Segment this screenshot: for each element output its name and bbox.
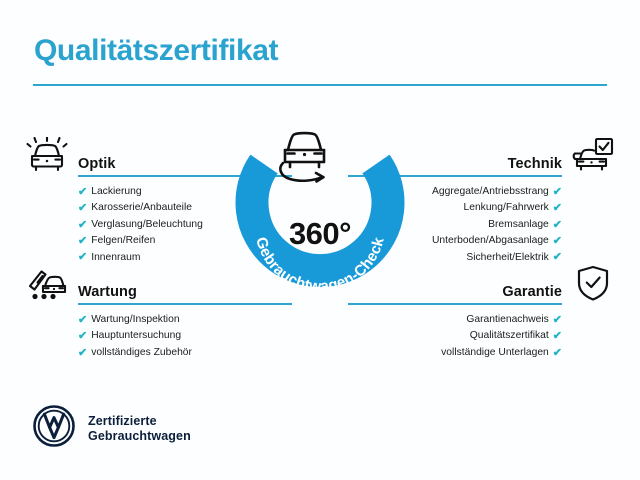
list-item-label: Qualitätszertifikat — [470, 328, 549, 344]
list-item: ✔Hauptuntersuchung — [78, 328, 292, 344]
check-icon: ✔ — [553, 203, 562, 214]
list-item: vollständige Unterlagen✔ — [348, 345, 562, 361]
check-icon: ✔ — [78, 236, 87, 247]
list-item-label: Unterboden/Abgasanlage — [432, 233, 549, 249]
check-icon: ✔ — [553, 331, 562, 342]
header-divider — [33, 84, 607, 86]
page-title: Qualitätszertifikat — [34, 34, 278, 68]
list-item-label: vollständige Unterlagen — [441, 345, 549, 361]
list-item-label: Bremsanlage — [488, 217, 549, 233]
check-icon: ✔ — [78, 220, 87, 231]
check-icon: ✔ — [78, 187, 87, 198]
footer-brand: Zertifizierte Gebrauchtwagen — [32, 404, 191, 453]
section-title: Wartung — [78, 284, 137, 303]
check-icon: ✔ — [553, 220, 562, 231]
car-checkbox-icon — [568, 133, 618, 177]
list-item-label: Wartung/Inspektion — [91, 312, 179, 328]
list-item-label: Verglasung/Beleuchtung — [91, 217, 203, 233]
vw-logo-icon — [32, 404, 76, 453]
list-item-label: Lackierung — [91, 184, 141, 200]
check-icon: ✔ — [78, 348, 87, 359]
badge-degrees-label: 360° — [228, 216, 412, 252]
list-item-label: Lenkung/Fahrwerk — [464, 200, 549, 216]
check-icon: ✔ — [553, 348, 562, 359]
badge-360-gebrauchtwagen-check: Gebrauchtwagen-Check 360° — [228, 118, 412, 314]
list-item: Garantienachweis✔ — [348, 312, 562, 328]
list-item-label: vollständiges Zubehör — [91, 345, 192, 361]
check-icon: ✔ — [553, 236, 562, 247]
check-icon: ✔ — [78, 203, 87, 214]
section-title: Optik — [78, 156, 116, 175]
car-rotate-icon — [280, 133, 324, 181]
check-icon: ✔ — [78, 331, 87, 342]
list-item-label: Karosserie/Anbauteile — [91, 200, 192, 216]
check-icon: ✔ — [553, 315, 562, 326]
list-item: ✔vollständiges Zubehör — [78, 345, 292, 361]
list-item: Qualitätszertifikat✔ — [348, 328, 562, 344]
list-item: ✔Wartung/Inspektion — [78, 312, 292, 328]
list-item-label: Hauptuntersuchung — [91, 328, 181, 344]
footer-line-2: Gebrauchtwagen — [88, 429, 191, 444]
footer-text: Zertifizierte Gebrauchtwagen — [88, 414, 191, 444]
footer-line-1: Zertifizierte — [88, 414, 191, 429]
car-shine-icon — [22, 133, 72, 177]
car-service-wrench-icon — [22, 261, 72, 305]
section-title: Technik — [508, 156, 562, 175]
shield-check-icon — [568, 261, 618, 305]
check-icon: ✔ — [553, 187, 562, 198]
list-item-label: Felgen/Reifen — [91, 233, 155, 249]
list-item-label: Garantienachweis — [466, 312, 548, 328]
certificate-page: Qualitätszertifikat — [0, 0, 640, 480]
list-item-label: Aggregate/Antriebsstrang — [432, 184, 549, 200]
section-title: Garantie — [502, 284, 562, 303]
check-icon: ✔ — [78, 315, 87, 326]
